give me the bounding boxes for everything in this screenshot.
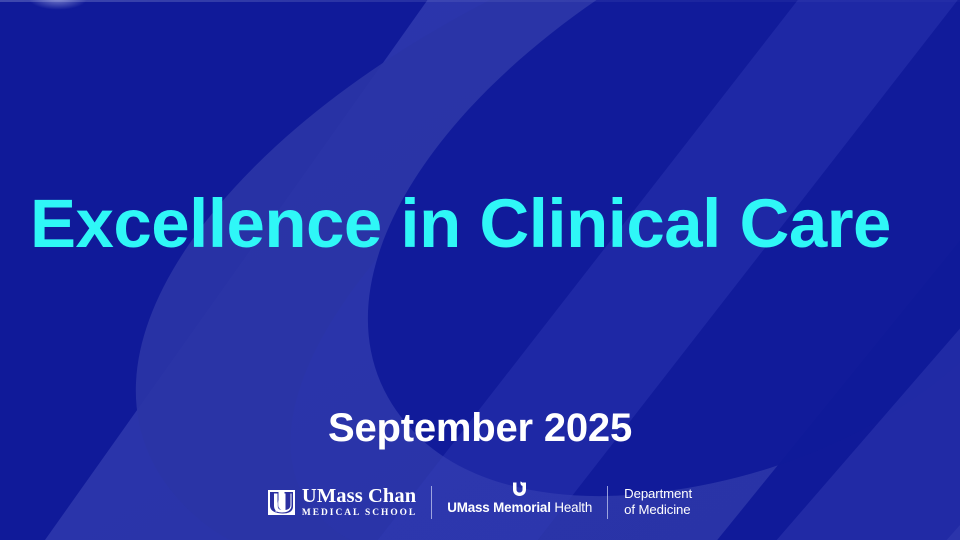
department-of-medicine-logo: Department of Medicine: [608, 481, 692, 523]
umass-chan-logo: UMass Chan MEDICAL SCHOOL: [268, 481, 431, 523]
umass-chan-shield-icon: [268, 490, 295, 515]
umass-memorial-health-logo: UMass Memorial Health: [432, 481, 607, 523]
logo-lockup-bar: UMass Chan MEDICAL SCHOOL UMass Memorial…: [0, 481, 960, 523]
umass-memorial-name-bold: UMass Memorial: [447, 500, 551, 515]
umass-memorial-wordmark: UMass Memorial Health: [447, 500, 592, 515]
department-line-1: Department: [624, 486, 692, 503]
umass-chan-wordmark: UMass Chan MEDICAL SCHOOL: [302, 486, 417, 519]
umass-chan-name: UMass Chan: [302, 486, 416, 507]
department-line-2: of Medicine: [624, 502, 692, 519]
umass-memorial-tulip-icon: [511, 481, 528, 497]
umass-memorial-name-light: Health: [551, 500, 592, 515]
umass-chan-tagline: MEDICAL SCHOOL: [302, 509, 417, 518]
slide-date-subtitle: September 2025: [0, 406, 960, 451]
page-title: Excellence in Clinical Care: [30, 188, 946, 260]
title-slide: Excellence in Clinical Care September 20…: [0, 0, 960, 540]
background-artwork: [0, 0, 960, 540]
